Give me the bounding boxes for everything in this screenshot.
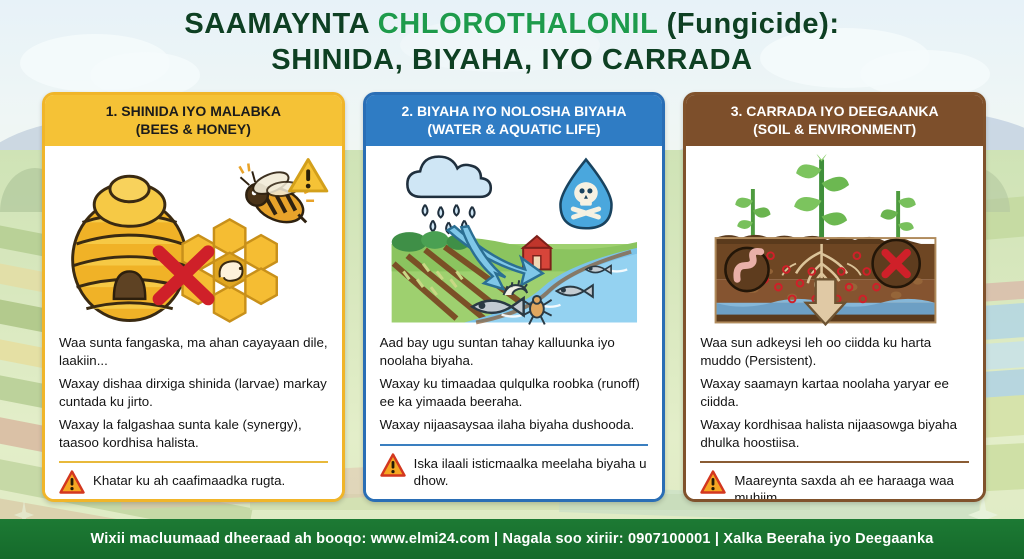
card-water-tip: Iska ilaali isticmaalka meelaha biyaha u…: [380, 444, 649, 489]
card-soil-body: Waa sun adkeysi leh oo ciidda ku harta m…: [686, 146, 983, 502]
card-water-tip-text: Iska ilaali isticmaalka meelaha biyaha u…: [414, 453, 649, 489]
infographic-page: SAAMAYNTA CHLOROTHALONIL (Fungicide): SH…: [0, 0, 1024, 559]
card-soil-para-3: Waxay kordhisaa halista nijaasowga biyah…: [700, 416, 969, 451]
card-water-title-line2: (WATER & AQUATIC LIFE): [372, 120, 657, 138]
card-bees-honey-para-3: Waxay la falgashaa sunta kale (synergy),…: [59, 416, 328, 451]
toxic-water-droplet-skull-icon: [560, 160, 611, 229]
card-bees-honey-title-line2: (BEES & HONEY): [51, 120, 336, 138]
title-line-1: SAAMAYNTA CHLOROTHALONIL (Fungicide):: [0, 6, 1024, 42]
card-soil-text: Waa sun adkeysi leh oo ciidda ku harta m…: [694, 330, 975, 457]
card-water-para-2: Waxay ku timaadaa qulqulka roobka (runof…: [380, 375, 649, 410]
card-soil-header: 3. CARRADA IYO DEEGAANKA (SOIL & ENVIRON…: [686, 95, 983, 146]
card-water-title-line1: 2. BIYAHA IYO NOLOSHA BIYAHA: [372, 102, 657, 120]
runoff-svg: [374, 152, 655, 330]
footer-bar: Wixii macluumaad dheeraad ah booqo: www.…: [0, 519, 1024, 559]
card-bees-honey-para-1: Waa sunta fangaska, ma ahan cayayaan dil…: [59, 334, 328, 369]
warning-triangle-icon: [290, 160, 327, 191]
title-accent-chemical: CHLOROTHALONIL: [378, 8, 658, 40]
card-soil-title-line2: (SOIL & ENVIRONMENT): [692, 120, 977, 138]
card-water-body: Aad bay ugu suntan tahay kalluunka iyo n…: [366, 146, 663, 499]
warning-triangle-icon: [700, 470, 726, 494]
rain-runoff-river-illustration: [374, 152, 655, 330]
warning-triangle-icon: [380, 453, 406, 477]
beehive: [73, 176, 187, 320]
card-soil-tip: Maareynta saxda ah ee haraaga waa muhiim…: [700, 461, 969, 502]
earthworm-circle-icon: [726, 248, 769, 291]
card-water-para-1: Aad bay ugu suntan tahay kalluunka iyo n…: [380, 334, 649, 369]
card-water-header: 2. BIYAHA IYO NOLOSHA BIYAHA (WATER & AQ…: [366, 95, 663, 146]
card-bees-honey-tip: Khatar ku ah caafimaadka rugta.: [59, 461, 328, 494]
soil-svg: [694, 152, 975, 330]
card-bees-honey-text: Waa sunta fangaska, ma ahan cayayaan dil…: [53, 330, 334, 457]
card-water-text: Aad bay ugu suntan tahay kalluunka iyo n…: [374, 330, 655, 440]
title-part-2: (Fungicide):: [667, 8, 840, 40]
card-soil-para-1: Waa sun adkeysi leh oo ciidda ku harta m…: [700, 334, 969, 369]
card-water-para-3: Waxay nijaasaysaa ilaha biyaha dushooda.: [380, 416, 649, 434]
card-soil-title-line1: 3. CARRADA IYO DEEGAANKA: [692, 102, 977, 120]
beehive-honeycomb-bee-illustration: [53, 152, 334, 330]
soil-cross-section-illustration: [694, 152, 975, 330]
card-soil-para-2: Waxay saamayn kartaa noolaha yaryar ee c…: [700, 375, 969, 410]
card-soil-environment: 3. CARRADA IYO DEEGAANKA (SOIL & ENVIRON…: [683, 92, 986, 502]
red-x-circle-icon: [873, 240, 920, 287]
warning-triangle-icon: [59, 470, 85, 494]
bee-larva: [214, 253, 245, 288]
beehive-svg: [53, 152, 334, 330]
page-title: SAAMAYNTA CHLOROTHALONIL (Fungicide): SH…: [0, 6, 1024, 78]
card-bees-honey: 1. SHINIDA IYO MALABKA (BEES & HONEY): [42, 92, 345, 502]
card-soil-tip-text: Maareynta saxda ah ee haraaga waa muhiim…: [734, 470, 969, 502]
card-bees-honey-para-2: Waxay dishaa dirxiga shinida (larvae) ma…: [59, 375, 328, 410]
title-line-2: SHINIDA, BIYAHA, IYO CARRADA: [0, 42, 1024, 78]
card-bees-honey-body: Waa sunta fangaska, ma ahan cayayaan dil…: [45, 146, 342, 502]
title-part-1: SAAMAYNTA: [184, 8, 369, 40]
card-bees-honey-tip-text: Khatar ku ah caafimaadka rugta.: [93, 470, 285, 489]
card-bees-honey-title-line1: 1. SHINIDA IYO MALABKA: [51, 102, 336, 120]
card-bees-honey-header: 1. SHINIDA IYO MALABKA (BEES & HONEY): [45, 95, 342, 146]
card-water-aquatic-life: 2. BIYAHA IYO NOLOSHA BIYAHA (WATER & AQ…: [363, 92, 666, 502]
footer-contact-text: Wixii macluumaad dheeraad ah booqo: www.…: [91, 531, 934, 547]
seedling-plants: [736, 154, 917, 240]
impact-cards-row: 1. SHINIDA IYO MALABKA (BEES & HONEY): [42, 92, 986, 502]
rain-cloud: [407, 157, 490, 197]
